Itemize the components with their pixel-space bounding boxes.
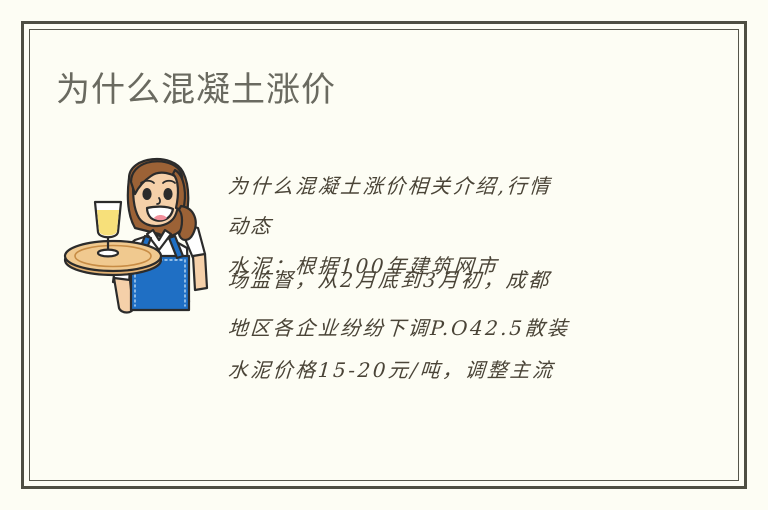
excerpt-intro-line-1: 为什么混凝土涨价相关介绍,行情	[227, 170, 553, 199]
waitress-illustration	[55, 142, 215, 317]
article-card: 为什么混凝土涨价	[0, 0, 768, 510]
excerpt-body-line-3: 地区各企业纷纷下调P.O42.5散装	[227, 312, 571, 341]
article-excerpt: 为什么混凝土涨价相关介绍,行情 动态 水泥：根据100年建筑网市 场监督，从2月…	[228, 162, 678, 402]
excerpt-intro-line-2: 动态	[227, 210, 274, 239]
excerpt-body-line-4: 水泥价格15-20元/吨，调整主流	[227, 354, 556, 383]
page-title: 为什么混凝土涨价	[56, 62, 336, 111]
excerpt-body-layer-b: 场监督，从2月底到3月初，成都	[227, 264, 552, 293]
